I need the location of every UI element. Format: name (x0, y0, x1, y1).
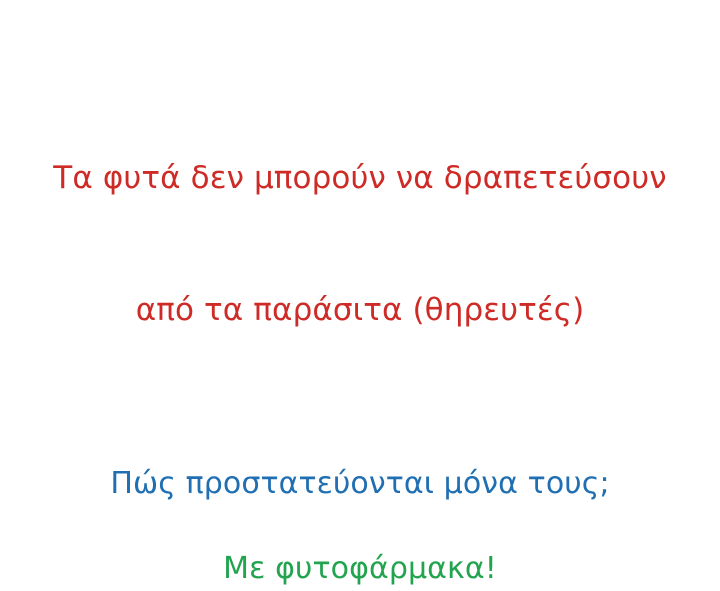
statement-line-1: Τα φυτά δεν μπορούν να δραπετεύσουν (40, 156, 680, 200)
statement-paragraph: Τα φυτά δεν μπορούν να δραπετεύσουν από … (40, 68, 680, 420)
answer-paragraph: Με φυτοφάρμακα! (40, 548, 680, 591)
slide-canvas: Τα φυτά δεν μπορούν να δραπετεύσουν από … (0, 0, 720, 540)
spacer-line-2 (40, 505, 680, 548)
question-paragraph: Πώς προστατεύονται μόνα τους; (40, 463, 680, 506)
spacer-line-1 (40, 420, 680, 463)
statement-line-2: από τα παράσιτα (θηρευτές) (40, 288, 680, 332)
slide-text-body: Τα φυτά δεν μπορούν να δραπετεύσουν από … (40, 68, 680, 591)
